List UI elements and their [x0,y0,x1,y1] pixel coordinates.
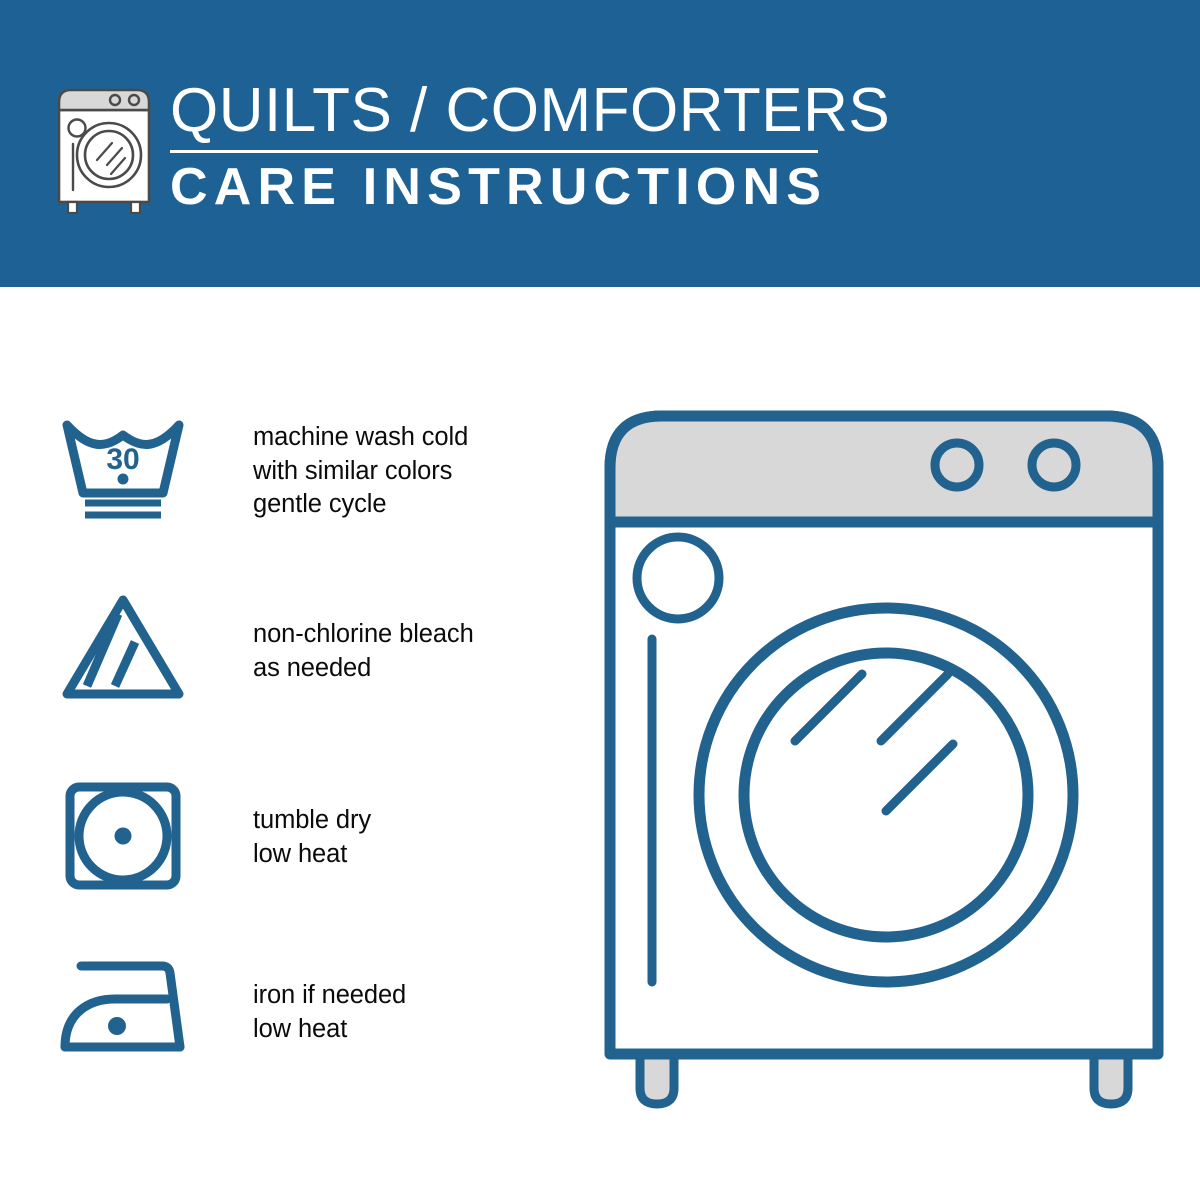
wash-temperature-label: 30 [106,443,139,476]
dry-heat-dot-icon [115,828,132,845]
care-line: iron if needed [253,979,406,1013]
care-row-machine-wash: 30 machine wash cold with similar colors… [0,415,560,522]
non-chlorine-bleach-triangle-icon [59,592,187,702]
care-icon-slot: 30 [58,415,188,521]
wash-dot-icon [118,474,129,485]
care-instructions-list: 30 machine wash cold with similar colors… [0,287,560,1200]
care-text-iron: iron if needed low heat [253,979,406,1046]
washing-machine-illustration [596,402,1172,1118]
title-divider [170,150,818,153]
care-line: machine wash cold [253,421,468,455]
care-icon-slot [58,592,188,702]
care-row-bleach: non-chlorine bleach as needed [0,592,560,702]
care-icon-slot [58,957,188,1057]
care-line: low heat [253,838,371,872]
care-line: as needed [253,652,474,686]
washing-machine-graphic [596,402,1172,1118]
page-title: QUILTS / COMFORTERS [170,78,890,144]
care-text-bleach: non-chlorine bleach as needed [253,618,474,685]
care-line: with similar colors [253,455,468,489]
care-text-tumble-dry: tumble dry low heat [253,804,371,871]
care-line: non-chlorine bleach [253,618,474,652]
care-line: gentle cycle [253,488,468,522]
wash-tub-30-gentle-icon: 30 [59,415,187,521]
care-row-iron: iron if needed low heat [0,957,560,1057]
care-icon-slot [58,782,188,890]
page-header: QUILTS / COMFORTERS CARE INSTRUCTIONS [0,0,1200,287]
care-line: low heat [253,1013,406,1047]
care-row-tumble-dry: tumble dry low heat [0,782,560,890]
iron-heat-dot-icon [108,1017,126,1035]
header-title-block: QUILTS / COMFORTERS CARE INSTRUCTIONS [170,78,890,215]
care-line: tumble dry [253,804,371,838]
washing-machine-icon [52,82,156,214]
iron-low-heat-icon [59,957,187,1057]
page-subtitle: CARE INSTRUCTIONS [170,159,890,215]
header-content: QUILTS / COMFORTERS CARE INSTRUCTIONS [52,78,890,215]
care-text-machine-wash: machine wash cold with similar colors ge… [253,421,468,522]
tumble-dry-low-heat-icon [63,782,183,890]
